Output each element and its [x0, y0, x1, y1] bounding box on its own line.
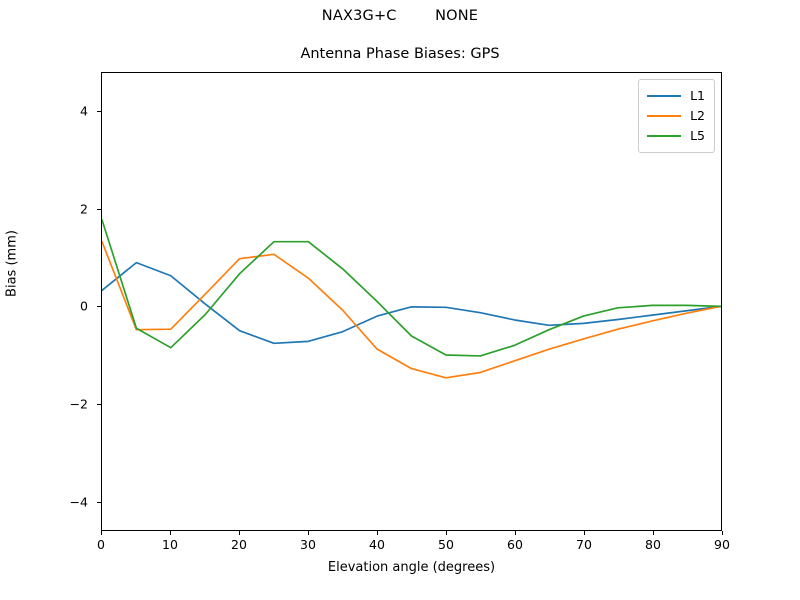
- x-tick-label: 70: [576, 537, 592, 552]
- x-tick-label: 40: [369, 537, 385, 552]
- series-line-l1: [102, 263, 721, 344]
- legend-label: L1: [690, 90, 705, 103]
- legend-entry-l5[interactable]: L5: [647, 126, 705, 146]
- figure-suptitle: NAX3G+C NONE: [0, 8, 800, 24]
- legend-label: L5: [690, 130, 705, 143]
- series-canvas: [102, 73, 721, 530]
- legend-swatch-l1: [647, 95, 681, 97]
- figure-title: Antenna Phase Biases: GPS: [0, 46, 800, 62]
- x-tick-mark: [239, 531, 240, 535]
- x-tick-label: 10: [162, 537, 178, 552]
- y-tick-label: 0: [0, 299, 88, 314]
- x-tick-mark: [515, 531, 516, 535]
- x-axis-label: Elevation angle (degrees): [101, 560, 722, 575]
- x-tick-label: 90: [714, 537, 730, 552]
- x-tick-label: 20: [231, 537, 247, 552]
- x-tick-label: 30: [300, 537, 316, 552]
- legend-swatch-l5: [647, 135, 681, 137]
- x-tick-mark: [308, 531, 309, 535]
- x-tick-mark: [653, 531, 654, 535]
- legend-swatch-l2: [647, 115, 681, 117]
- x-tick-label: 50: [438, 537, 454, 552]
- y-tick-label: −4: [0, 494, 88, 509]
- y-tick-label: −2: [0, 397, 88, 412]
- y-axis-label: Bias (mm): [5, 34, 20, 494]
- series-line-l2: [102, 242, 721, 378]
- y-tick-label: 2: [0, 201, 88, 216]
- x-tick-mark: [584, 531, 585, 535]
- legend-box[interactable]: L1L2L5: [638, 79, 715, 153]
- figure-canvas: NAX3G+C NONE Antenna Phase Biases: GPS B…: [0, 0, 800, 600]
- x-tick-mark: [446, 531, 447, 535]
- legend-entry-l1[interactable]: L1: [647, 86, 705, 106]
- x-tick-mark: [722, 531, 723, 535]
- x-tick-mark: [101, 531, 102, 535]
- x-tick-label: 0: [97, 537, 105, 552]
- y-tick-label: 4: [0, 104, 88, 119]
- x-tick-label: 60: [507, 537, 523, 552]
- x-tick-mark: [170, 531, 171, 535]
- legend-entry-l2[interactable]: L2: [647, 106, 705, 126]
- series-line-l5: [102, 220, 721, 356]
- legend-label: L2: [690, 110, 705, 123]
- x-tick-label: 80: [645, 537, 661, 552]
- x-tick-mark: [377, 531, 378, 535]
- plot-area: L1L2L5: [101, 72, 722, 531]
